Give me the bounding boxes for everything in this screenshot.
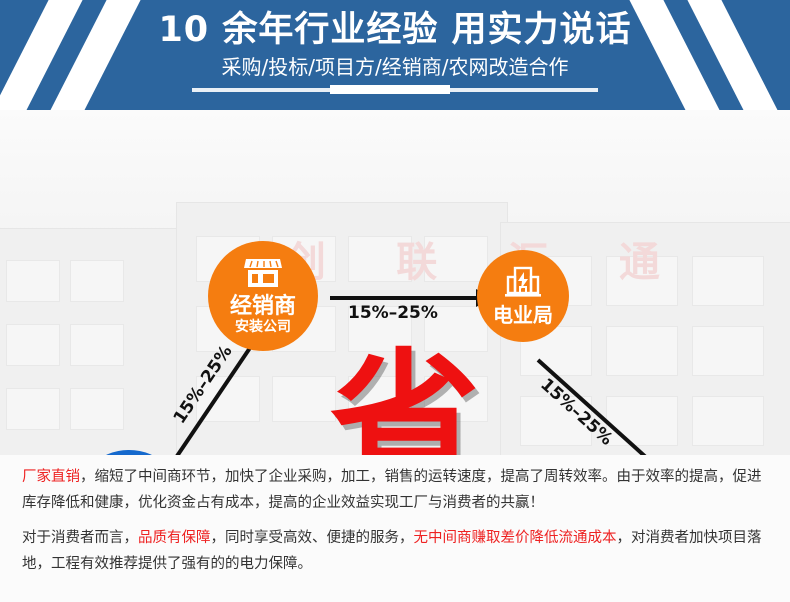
bg-window xyxy=(70,388,124,430)
paragraph-2-part-1: 对于消费者而言， xyxy=(22,530,138,546)
paragraph-1-rest: ，缩短了中间商环节，加快了企业采购，加工，销售的运转速度，提高了周转效率。由于效… xyxy=(22,469,762,511)
node-power-bureau-label: 电业局 xyxy=(493,305,553,326)
bg-window xyxy=(70,260,124,302)
bg-window xyxy=(272,376,336,422)
bg-window xyxy=(6,260,60,302)
header-title: 10 余年行业经验 用实力说话 xyxy=(0,8,790,52)
paragraph-2-highlight-2: 无中间商赚取差价降低流通成本 xyxy=(414,530,617,546)
bg-window xyxy=(6,388,60,430)
node-power-bureau[interactable]: 电业局 xyxy=(477,250,569,342)
header-divider-center xyxy=(330,85,450,94)
header-subtitle: 采购/投标/项目方/经销商/农网改造合作 xyxy=(0,54,790,80)
arrow-dealer-to-power xyxy=(330,296,478,300)
paragraph-1: 厂家直销，缩短了中间商环节，加快了企业采购，加工，销售的运转速度，提高了周转效率… xyxy=(22,464,774,516)
bg-window xyxy=(70,324,124,366)
node-dealer[interactable]: 经销商 安装公司 xyxy=(208,241,318,351)
node-dealer-label: 经销商 xyxy=(230,295,296,318)
footer-description: 厂家直销，缩短了中间商环节，加快了企业采购，加工，销售的运转速度，提高了周转效率… xyxy=(0,455,790,602)
bg-window xyxy=(606,396,678,446)
node-dealer-sublabel: 安装公司 xyxy=(235,320,291,335)
paragraph-2-highlight-1: 品质有保障 xyxy=(138,530,211,546)
power-building-icon xyxy=(504,266,542,302)
shop-icon xyxy=(243,257,283,293)
paragraph-2-part-2: ，同时享受高效、便捷的服务， xyxy=(211,530,414,546)
arrow-label-dealer-to-power: 15%–25% xyxy=(348,303,438,323)
center-word-sheng: 省 xyxy=(330,348,480,455)
page-header: 10 余年行业经验 用实力说话 采购/投标/项目方/经销商/农网改造合作 xyxy=(0,0,790,110)
diagram-stage: 创 联 汇 通 省 15%–25% 15%–25% 15%–25% 在这里省了中… xyxy=(0,110,790,455)
header-content: 10 余年行业经验 用实力说话 采购/投标/项目方/经销商/农网改造合作 xyxy=(0,0,790,110)
bg-window xyxy=(692,396,764,446)
paragraph-1-highlight: 厂家直销 xyxy=(22,469,80,485)
paragraph-2: 对于消费者而言，品质有保障，同时享受高效、便捷的服务，无中间商赚取差价降低流通成… xyxy=(22,525,774,577)
bg-window xyxy=(606,326,678,376)
bg-window xyxy=(6,324,60,366)
bg-window xyxy=(692,326,764,376)
infographic-page: 10 余年行业经验 用实力说话 采购/投标/项目方/经销商/农网改造合作 xyxy=(0,0,790,602)
